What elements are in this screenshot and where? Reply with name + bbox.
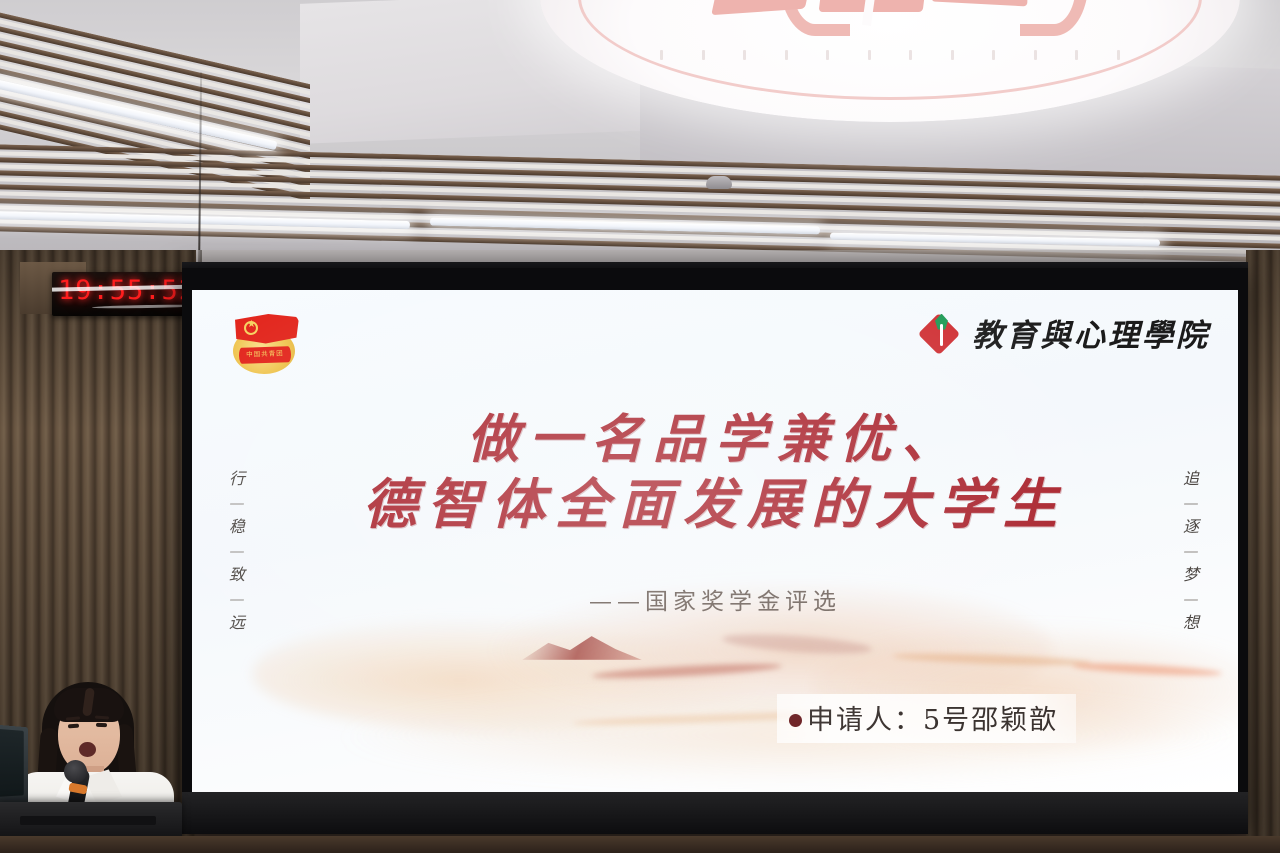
motto-separator: — <box>1174 540 1208 562</box>
presenter-eye <box>96 723 107 728</box>
ceiling-emblem-text-dots <box>660 50 1120 64</box>
led-wall-clock: 19:55:52 <box>52 272 202 316</box>
slide-subtitle: ——国家奖学金评选 <box>192 582 1238 616</box>
motto-separator: — <box>220 540 254 562</box>
slide-title: 做一名品学兼优、 德智体全面发展的大学生 <box>192 408 1238 538</box>
presenter-mouth <box>79 742 96 757</box>
communist-youth-league-emblem: 中国共青团 <box>225 314 307 376</box>
floor <box>0 836 1280 853</box>
slide-title-line2: 德智体全面发展的大学生 <box>192 471 1238 538</box>
department-name: 教育與心理學院 <box>972 310 1210 355</box>
applicant-text: 申请人：5号邵颖歆 <box>807 705 1058 736</box>
slide-title-line1: 做一名品学兼优、 <box>192 408 1238 471</box>
laptop-screen <box>0 729 24 797</box>
department-logo: 教育與心理學院 <box>924 310 1210 355</box>
ceiling-emblem-mark <box>720 0 1060 34</box>
screen-bottom-frame <box>182 792 1248 834</box>
wall-right-wood-slats <box>1246 250 1280 853</box>
league-ribbon-text: 中国共青团 <box>239 346 292 364</box>
department-diamond-icon <box>924 314 962 352</box>
applicant-banner: 申请人：5号邵颖歆 <box>777 694 1076 743</box>
star-icon <box>244 321 258 335</box>
podium-slot <box>20 816 156 825</box>
bullet-icon <box>789 714 802 727</box>
smoke-detector-icon <box>706 176 732 189</box>
lecture-hall-scene: 19:55:52 中国共青团 <box>0 0 1280 853</box>
laptop-on-podium <box>0 725 28 810</box>
applicant-text-row: 申请人：5号邵颖歆 <box>789 698 1058 737</box>
presenter-eye <box>68 724 79 729</box>
projection-screen: 中国共青团 教育與心理學院 行 — 稳 — 致 — 远 追 — 逐 — 梦 <box>192 290 1238 792</box>
